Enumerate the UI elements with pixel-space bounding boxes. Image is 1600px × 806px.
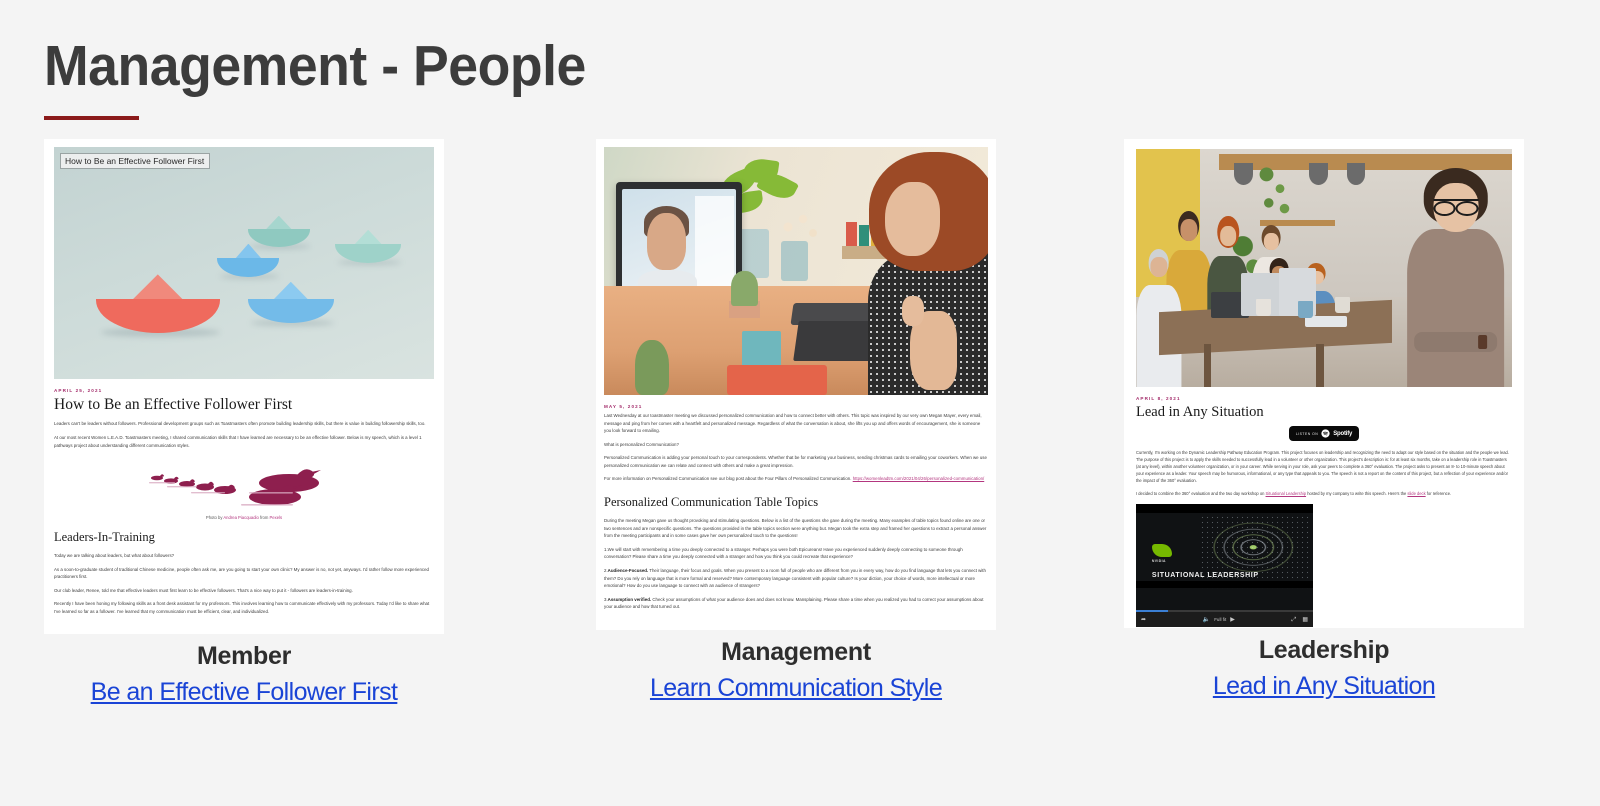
article-paragraph: Last Wednesday at our toastmaster meetin… — [604, 412, 988, 435]
article-paragraph: At our most recent Women L.E.A.D. Toastm… — [54, 434, 434, 449]
article-card-member[interactable]: How to Be an Effective Follower First AP… — [44, 139, 444, 634]
item-text: Check your assumptions of what your audi… — [604, 597, 984, 610]
hero-image-video-call — [604, 147, 988, 395]
settings-icon[interactable]: ▦ — [1302, 617, 1308, 623]
link-paragraph-middle: hosted by my company to write this speec… — [1306, 491, 1407, 496]
photo-credit-middle: from — [259, 515, 270, 520]
blog-post-url-link[interactable]: https://womenleadtm.com/2021/04/26/perso… — [853, 476, 985, 481]
paper-boat-teal — [248, 217, 310, 247]
caption-link[interactable]: Be an Effective Follower First — [91, 678, 398, 707]
column-member: How to Be an Effective Follower First AP… — [44, 139, 444, 634]
item-bold-lead: Audience-Focused. — [608, 568, 649, 573]
image-tooltip-label: How to Be an Effective Follower First — [60, 153, 210, 169]
article-date: APRIL 25, 2021 — [54, 388, 434, 393]
link-paragraph-prefix: I decided to combine the 360° evaluation… — [1136, 491, 1266, 496]
article-paragraph: Personalized Communication is adding you… — [604, 454, 988, 469]
paper-boat-blue — [248, 283, 334, 323]
caption-title: Management — [596, 638, 996, 667]
article-date: MAY 5, 2021 — [604, 404, 988, 409]
article-card-leadership[interactable]: APRIL 8, 2021 Lead in Any Situation List… — [1124, 139, 1524, 628]
article-paragraph: As a soon-to-graduate student of traditi… — [54, 566, 434, 581]
article-paragraph: During the meeting Megan gave us thought… — [604, 517, 988, 540]
article-paragraph: Today we are talking about leaders, but … — [54, 552, 434, 560]
fullscreen-icon[interactable]: ⤢ — [1292, 617, 1297, 623]
listen-on-spotify-badge[interactable]: Listen on Spotify — [1289, 426, 1359, 441]
hero-image-paper-boats: How to Be an Effective Follower First — [54, 147, 434, 379]
volume-icon[interactable]: 🔈 — [1203, 617, 1210, 623]
numbered-item: 3.Assumption verified. Check your assump… — [604, 596, 988, 611]
numbered-item: 2.Audience-Focused. Their language, thei… — [604, 567, 988, 590]
video-thumbnail[interactable]: NVIDIA SITUATIONAL LEADERSHIP Renee Yao … — [1136, 504, 1313, 610]
article-link-paragraph: I decided to combine the 360° evaluation… — [1136, 491, 1512, 498]
article-title: Lead in Any Situation — [1136, 404, 1512, 420]
article-paragraph: Our club leader, Renee, told me that eff… — [54, 587, 434, 595]
caption-link[interactable]: Lead in Any Situation — [1213, 672, 1435, 701]
page-title: Management - People — [44, 33, 586, 99]
person-foreground-leader — [1407, 168, 1505, 387]
video-title: SITUATIONAL LEADERSHIP — [1152, 572, 1259, 579]
paper-boat-blue — [217, 245, 279, 277]
glasses-icon — [1433, 199, 1478, 212]
coffee-mug — [742, 331, 780, 371]
video-controls[interactable]: ➦ 🔈 Full fit ▶ ⤢ ▦ — [1136, 612, 1313, 627]
spotify-badge-wrap: Listen on Spotify — [1136, 426, 1512, 441]
article-section-heading: Leaders-In-Training — [54, 530, 434, 545]
nvidia-wordmark: NVIDIA — [1152, 559, 1205, 563]
link-paragraph-prefix: For more information on Personalized Com… — [604, 476, 853, 481]
situational-leadership-link[interactable]: Situational Leadership — [1266, 491, 1307, 496]
person-at-desk — [857, 147, 988, 395]
column-leadership: APRIL 8, 2021 Lead in Any Situation List… — [1124, 139, 1524, 628]
video-player[interactable]: NVIDIA SITUATIONAL LEADERSHIP Renee Yao … — [1136, 504, 1313, 628]
spotify-badge-prefix: Listen on — [1296, 432, 1318, 436]
article-paragraph: Currently, I'm working on the Dynamic Le… — [1136, 450, 1512, 485]
slide-canvas: Management - People How to Be an Effecti… — [0, 0, 1600, 806]
photo-credit-prefix: Photo by — [206, 515, 223, 520]
ducks-illustration — [54, 459, 434, 511]
photo-credit-source-link[interactable]: Pexels — [269, 515, 282, 520]
play-icon[interactable]: ▶ — [1230, 617, 1235, 623]
card-caption-leadership: Leadership Lead in Any Situation — [1124, 636, 1524, 701]
hero-image-office-team — [1136, 149, 1512, 387]
spotify-badge-name: Spotify — [1333, 431, 1352, 437]
video-time-label: Full fit — [1214, 617, 1226, 622]
column-management: MAY 5, 2021 Last Wednesday at our toastm… — [596, 139, 996, 630]
article-title: How to Be an Effective Follower First — [54, 396, 434, 413]
article-section-heading: Personalized Communication Table Topics — [604, 495, 988, 510]
item-text: We will start with remembering a time yo… — [604, 547, 963, 560]
photo-credit: Photo by Andrea Piacquadio from Pexels — [54, 515, 434, 520]
caption-link[interactable]: Learn Communication Style — [650, 674, 942, 703]
card-caption-member: Member Be an Effective Follower First — [44, 642, 444, 707]
article-paragraph: Recently I have been honing my following… — [54, 600, 434, 615]
article-paragraph: Leaders can't be leaders without followe… — [54, 420, 434, 428]
paper-boat-red-leader — [96, 277, 220, 333]
spotify-icon — [1321, 429, 1330, 438]
article-card-management[interactable]: MAY 5, 2021 Last Wednesday at our toastm… — [596, 139, 996, 630]
paper-boat-teal — [335, 231, 401, 263]
article-date: APRIL 8, 2021 — [1136, 396, 1512, 401]
numbered-item: 1.We will start with remembering a time … — [604, 546, 988, 561]
article-link-paragraph: For more information on Personalized Com… — [604, 475, 988, 483]
slide-deck-link[interactable]: slide deck — [1407, 491, 1425, 496]
nvidia-logo: NVIDIA — [1152, 544, 1205, 563]
card-caption-management: Management Learn Communication Style — [596, 638, 996, 703]
item-bold-lead: Assumption verified. — [608, 597, 651, 602]
caption-title: Leadership — [1124, 636, 1524, 665]
photo-credit-author-link[interactable]: Andrea Piacquadio — [223, 515, 258, 520]
caption-title: Member — [44, 642, 444, 671]
link-paragraph-suffix: for reference. — [1426, 491, 1451, 496]
title-underline-rule — [44, 116, 139, 120]
item-text: Their language, their focus and goals. W… — [604, 568, 986, 588]
article-paragraph: What is personalized Communication? — [604, 441, 988, 449]
